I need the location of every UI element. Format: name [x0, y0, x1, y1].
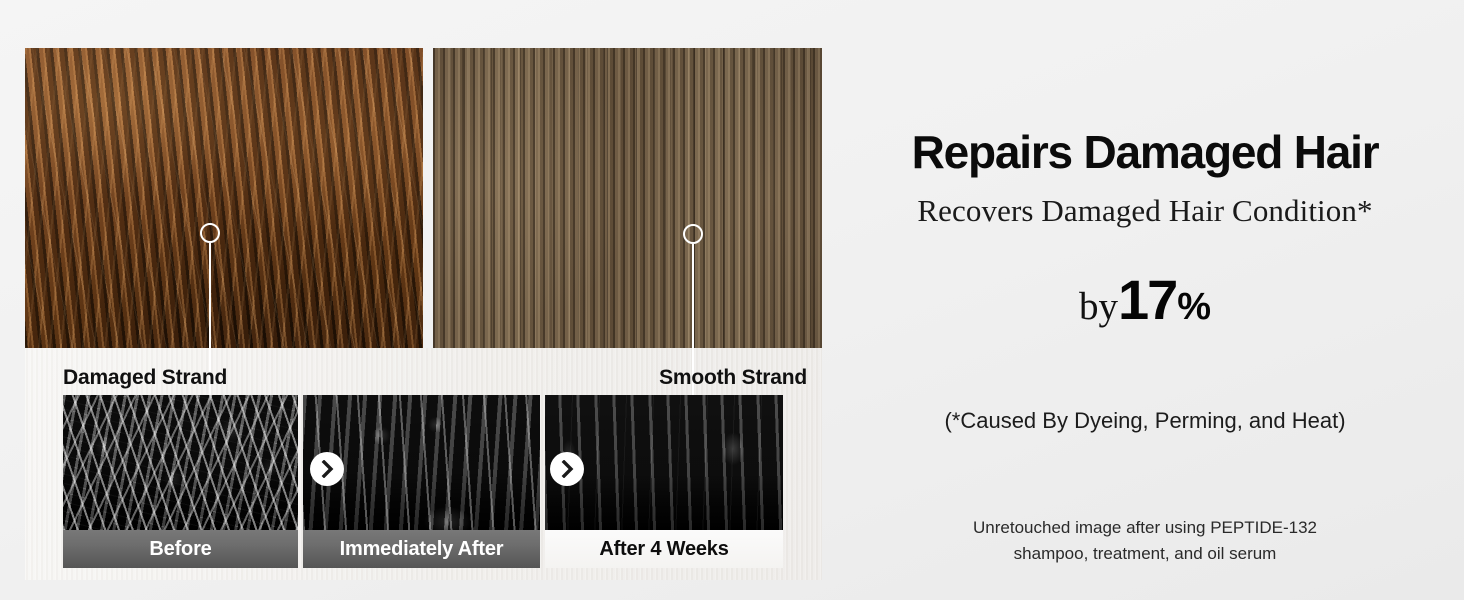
hair-photo-row: [25, 48, 822, 348]
stat-unit: %: [1177, 286, 1211, 328]
sem-comparison-strip: Before Immediately After After 4 Weeks: [63, 395, 783, 568]
chevron-right-icon: [550, 452, 584, 486]
footnote-line-2: shampoo, treatment, and oil serum: [840, 541, 1450, 567]
sem-caption-immediately-after: Immediately After: [303, 530, 540, 568]
sem-caption-after-4-weeks: After 4 Weeks: [545, 530, 783, 568]
cause-note: (*Caused By Dyeing, Perming, and Heat): [840, 408, 1450, 434]
damaged-strand-label: Damaged Strand: [63, 366, 227, 390]
subheadline: Recovers Damaged Hair Condition*: [840, 193, 1450, 229]
damaged-hair-texture: [25, 48, 423, 348]
copy-panel: Repairs Damaged Hair Recovers Damaged Ha…: [840, 0, 1450, 600]
sem-caption-before: Before: [63, 530, 298, 568]
headline: Repairs Damaged Hair: [840, 125, 1450, 179]
smooth-hair-texture: [433, 48, 822, 348]
stat-value: 17: [1118, 268, 1176, 331]
stat-block: by17%: [840, 272, 1450, 328]
smooth-hair-photo: [433, 48, 822, 348]
chevron-right-icon: [310, 452, 344, 486]
sem-cell-before: Before: [63, 395, 298, 568]
callout-ring-icon: [200, 223, 220, 243]
sem-cell-after-4-weeks: After 4 Weeks: [545, 395, 783, 568]
sem-texture-before: [63, 395, 298, 530]
hair-comparison-panel: Damaged Strand Smooth Strand Before Imme…: [25, 0, 822, 580]
damaged-hair-photo: [25, 48, 423, 348]
footnote: Unretouched image after using PEPTIDE-13…: [840, 515, 1450, 568]
smooth-strand-label: Smooth Strand: [659, 366, 807, 390]
sem-image-before: [63, 395, 298, 530]
footnote-line-1: Unretouched image after using PEPTIDE-13…: [840, 515, 1450, 541]
promo-banner: Damaged Strand Smooth Strand Before Imme…: [0, 0, 1464, 600]
callout-ring-icon: [683, 224, 703, 244]
stat-prefix: by: [1079, 285, 1118, 328]
sem-cell-immediately-after: Immediately After: [303, 395, 540, 568]
